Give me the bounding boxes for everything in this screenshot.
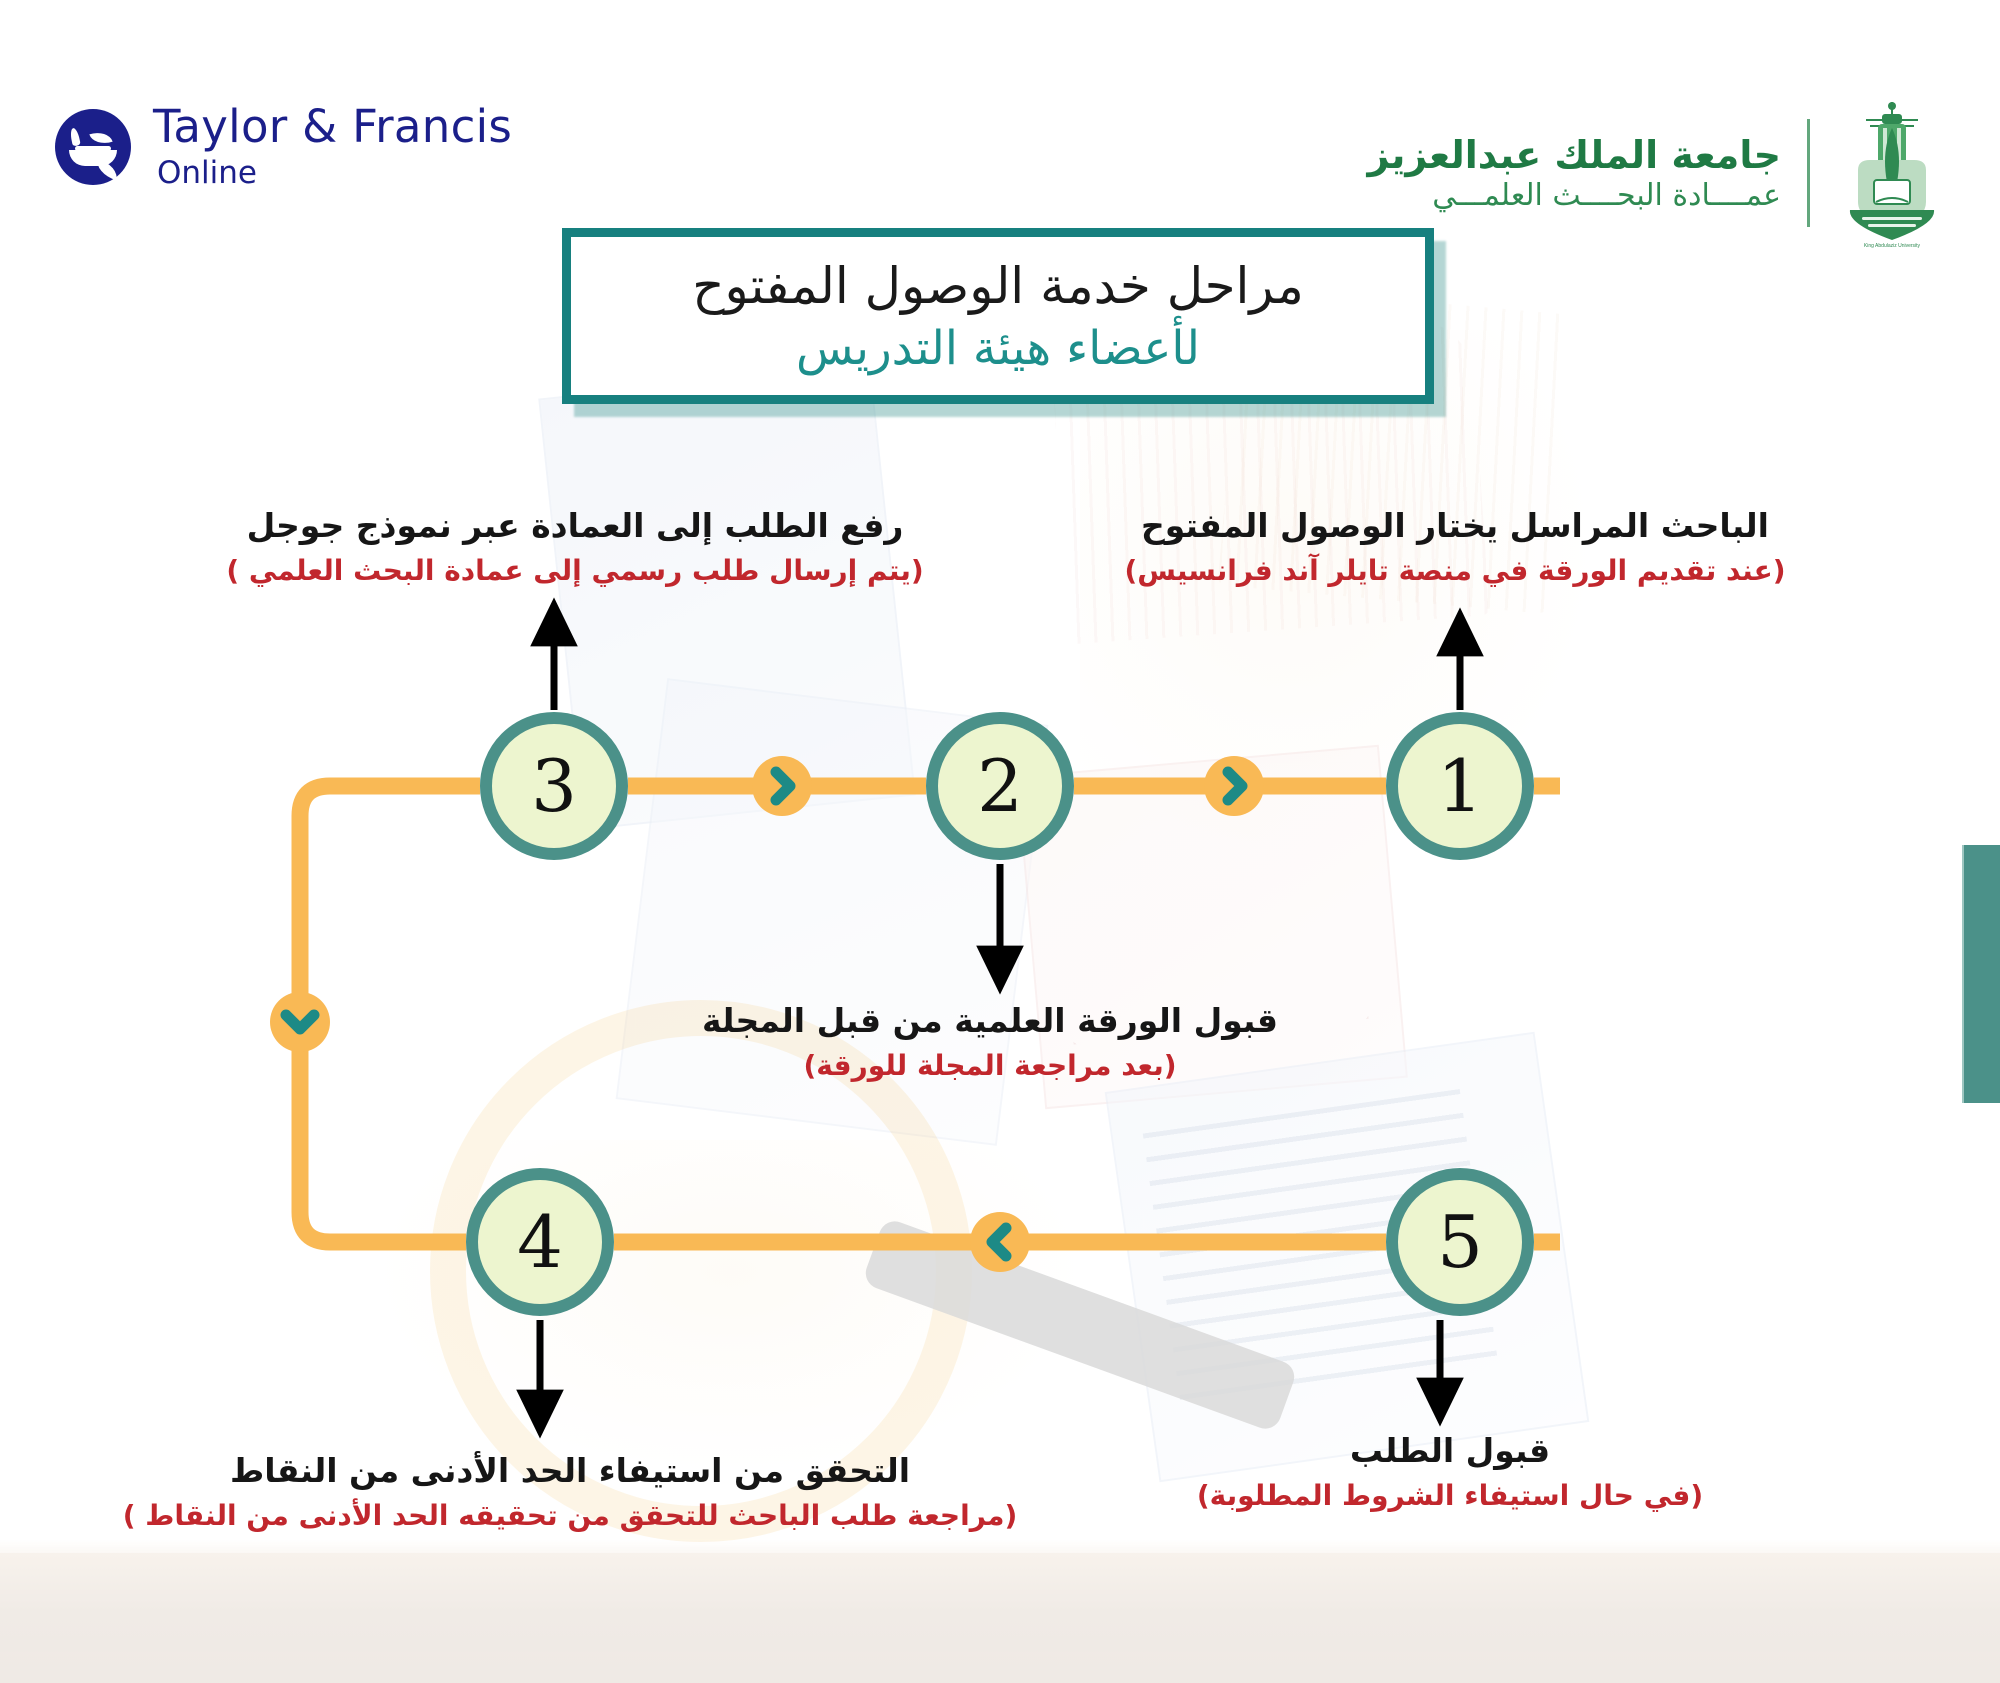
step-5-main: قبول الطلب xyxy=(1130,1430,1770,1472)
step-5-note: (في حال استيفاء الشروط المطلوبة) xyxy=(1130,1478,1770,1514)
step-node-1[interactable]: 1 xyxy=(1386,712,1534,860)
step-node-5[interactable]: 5 xyxy=(1386,1168,1534,1316)
infographic-canvas: Taylor & Francis Online جامعة الملك عبدا… xyxy=(0,0,2000,1683)
step-1-main: الباحث المراسل يختار الوصول المفتوح xyxy=(1090,505,1820,547)
step-node-2[interactable]: 2 xyxy=(926,712,1074,860)
step-label-3: رفع الطلب إلى العمادة عبر نموذج جوجل (يت… xyxy=(160,505,990,589)
step-3-note: (يتم إرسال طلب رسمي إلى عمادة البحث العل… xyxy=(160,553,990,589)
step-3-main: رفع الطلب إلى العمادة عبر نموذج جوجل xyxy=(160,505,990,547)
step-label-5: قبول الطلب (في حال استيفاء الشروط المطلو… xyxy=(1130,1430,1770,1514)
step-label-2: قبول الورقة العلمية من قبل المجلة (بعد م… xyxy=(660,1000,1320,1084)
step-4-main: التحقق من استيفاء الحد الأدنى من النقاط xyxy=(120,1450,1020,1492)
connector-marker-3-4 xyxy=(270,992,330,1052)
step-4-note: (مراجعة طلب الباحث للتحقق من تحقيقه الحد… xyxy=(120,1498,1020,1534)
connector-marker-2-3 xyxy=(752,756,812,816)
step-label-1: الباحث المراسل يختار الوصول المفتوح (عند… xyxy=(1090,505,1820,589)
connector-marker-1-2 xyxy=(1204,756,1264,816)
step-2-main: قبول الورقة العلمية من قبل المجلة xyxy=(660,1000,1320,1042)
connector-marker-5-4 xyxy=(970,1212,1030,1272)
step-label-4: التحقق من استيفاء الحد الأدنى من النقاط … xyxy=(120,1450,1020,1534)
step-2-note: (بعد مراجعة المجلة للورقة) xyxy=(660,1048,1320,1084)
step-1-note: (عند تقديم الورقة في منصة تايلر آند فران… xyxy=(1090,553,1820,589)
step-node-3[interactable]: 3 xyxy=(480,712,628,860)
step-node-4[interactable]: 4 xyxy=(466,1168,614,1316)
